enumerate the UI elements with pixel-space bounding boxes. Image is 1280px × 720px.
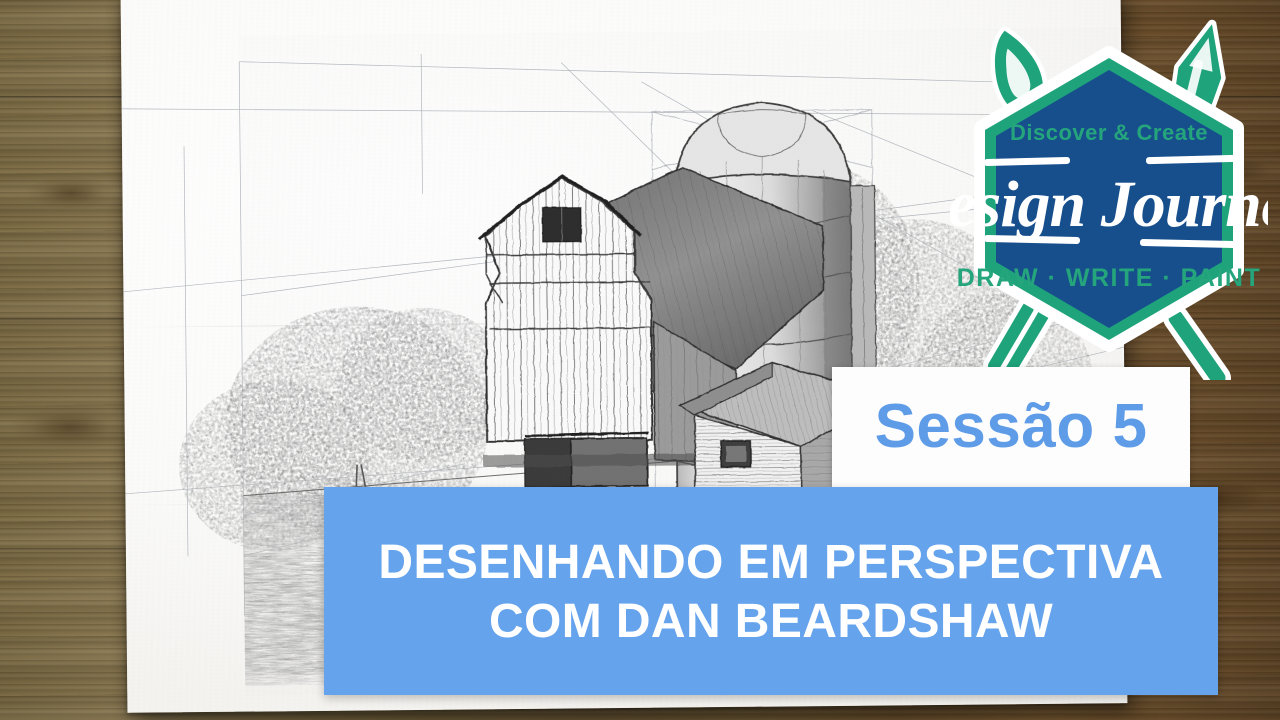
logo-brand-name: Design Journey xyxy=(950,168,1268,241)
session-label: Sessão 5 xyxy=(875,396,1148,458)
logo-tagline-top: Discover & Create xyxy=(1010,120,1208,145)
title-line-1: DESENHANDO EM PERSPECTIVA xyxy=(378,534,1163,593)
title-line-2: COM DAN BEARDSHAW xyxy=(489,593,1053,652)
design-journey-logo[interactable]: Discover & Create Design Journey DRAW · … xyxy=(950,18,1268,380)
session-panel: Sessão 5 xyxy=(832,367,1190,487)
brush-handle-lower xyxy=(994,308,1042,374)
logo-badge-svg: Discover & Create Design Journey DRAW · … xyxy=(950,18,1268,380)
logo-tagline-bottom: DRAW · WRITE · PAINT xyxy=(957,264,1262,292)
video-thumbnail: Discover & Create Design Journey DRAW · … xyxy=(0,0,1280,720)
title-banner: DESENHANDO EM PERSPECTIVA COM DAN BEARDS… xyxy=(324,487,1218,695)
